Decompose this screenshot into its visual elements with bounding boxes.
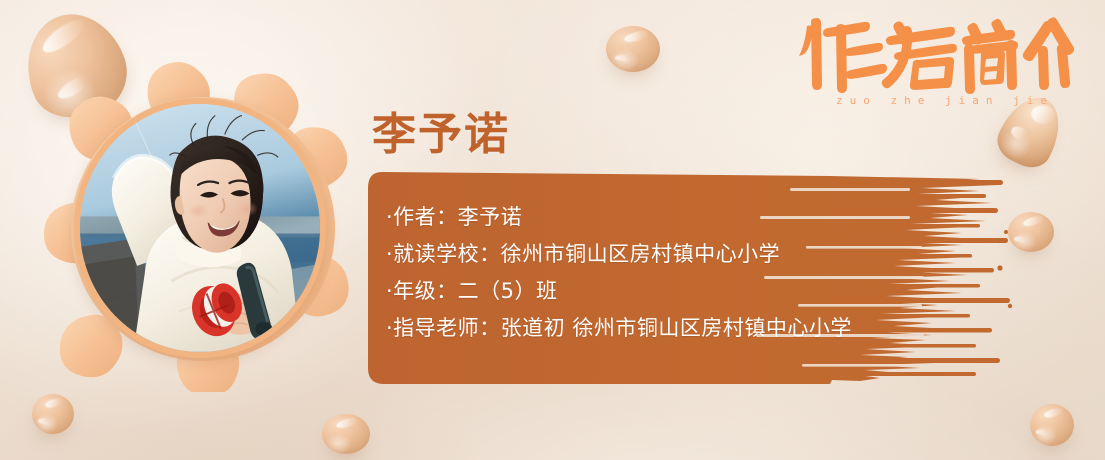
- info-line-school: ·就读学校：徐州市铜山区房村镇中心小学: [386, 236, 1006, 273]
- title-pinyin: zuo zhe jian jie: [795, 94, 1095, 107]
- title-brush-glyphs-icon: [795, 10, 1095, 92]
- author-intro-card: 李予诺 ·作者：李予诺 ·就读学校：徐州市铜山区房村镇中心小学 ·年级：二（5）…: [0, 0, 1105, 460]
- photo-frame: [44, 62, 364, 392]
- info-line-author: ·作者：李予诺: [386, 199, 1006, 236]
- info-line-grade: ·年级：二（5）班: [386, 273, 1006, 310]
- page-title: zuo zhe jian jie: [795, 10, 1095, 110]
- info-list: ·作者：李予诺 ·就读学校：徐州市铜山区房村镇中心小学 ·年级：二（5）班 ·指…: [386, 199, 1006, 347]
- info-line-teacher: ·指导老师：张道初 徐州市铜山区房村镇中心小学: [386, 310, 1006, 347]
- student-name: 李予诺: [372, 98, 510, 162]
- student-photo: [74, 98, 326, 358]
